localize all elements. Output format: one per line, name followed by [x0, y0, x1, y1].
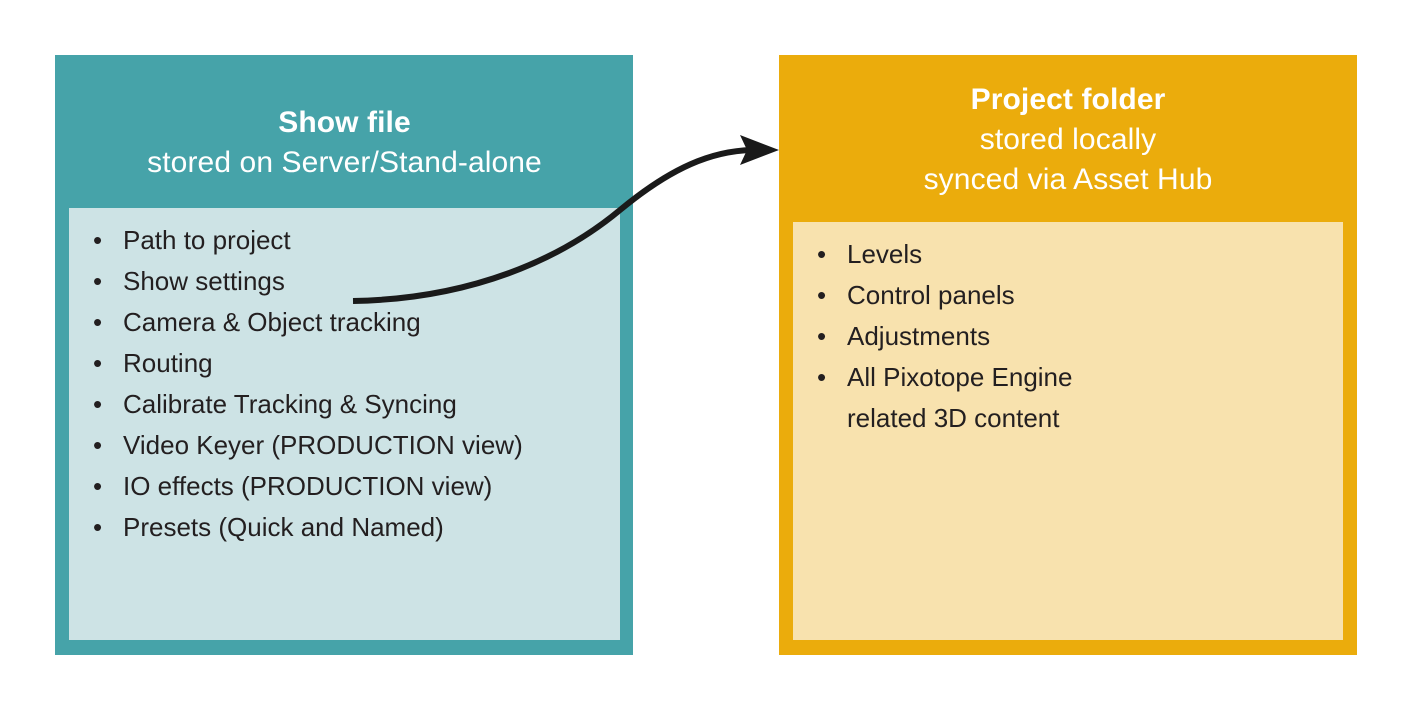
project-folder-panel: • Levels • Control panels • Adjustments …: [793, 222, 1343, 640]
list-item: • Video Keyer (PRODUCTION view): [69, 425, 620, 466]
connector-arrow-head-icon: [740, 135, 779, 165]
bullet-icon: •: [817, 275, 826, 316]
show-file-header: Show file stored on Server/Stand-alone: [69, 68, 620, 183]
list-item: • Presets (Quick and Named): [69, 507, 620, 548]
list-item: • Routing: [69, 343, 620, 384]
list-item: • Path to project: [69, 220, 620, 261]
list-item: • Show settings: [69, 261, 620, 302]
show-file-card: Show file stored on Server/Stand-alone •…: [55, 55, 633, 655]
bullet-icon: •: [93, 220, 102, 261]
list-item: • Adjustments: [793, 316, 1343, 357]
list-item-label: Show settings: [123, 266, 285, 296]
list-item-label: Routing: [123, 348, 213, 378]
bullet-icon: •: [817, 357, 826, 398]
list-item-label-continuation: related 3D content: [847, 398, 1343, 439]
project-folder-list: • Levels • Control panels • Adjustments …: [793, 222, 1343, 439]
bullet-icon: •: [93, 343, 102, 384]
bullet-icon: •: [817, 316, 826, 357]
list-item: • Levels: [793, 234, 1343, 275]
list-item: • Camera & Object tracking: [69, 302, 620, 343]
diagram-canvas: Show file stored on Server/Stand-alone •…: [0, 0, 1411, 708]
bullet-icon: •: [93, 507, 102, 548]
bullet-icon: •: [93, 425, 102, 466]
list-item: • All Pixotope Engine related 3D content: [793, 357, 1343, 439]
list-item: • Control panels: [793, 275, 1343, 316]
show-file-list: • Path to project • Show settings • Came…: [69, 208, 620, 548]
bullet-icon: •: [93, 302, 102, 343]
list-item-label: Levels: [847, 239, 922, 269]
show-file-title: Show file: [77, 103, 612, 143]
project-folder-subtitle-line-2: synced via Asset Hub: [801, 160, 1335, 200]
list-item-label: All Pixotope Engine: [847, 362, 1072, 392]
list-item: • Calibrate Tracking & Syncing: [69, 384, 620, 425]
project-folder-card: Project folder stored locally synced via…: [779, 55, 1357, 655]
list-item-label: Video Keyer (PRODUCTION view): [123, 430, 523, 460]
list-item: • IO effects (PRODUCTION view): [69, 466, 620, 507]
list-item-label: Camera & Object tracking: [123, 307, 421, 337]
list-item-label: Adjustments: [847, 321, 990, 351]
bullet-icon: •: [817, 234, 826, 275]
list-item-label: IO effects (PRODUCTION view): [123, 471, 492, 501]
project-folder-subtitle-line-1: stored locally: [801, 120, 1335, 160]
bullet-icon: •: [93, 384, 102, 425]
list-item-label: Control panels: [847, 280, 1015, 310]
bullet-icon: •: [93, 466, 102, 507]
project-folder-title: Project folder: [801, 80, 1335, 120]
list-item-label: Path to project: [123, 225, 291, 255]
show-file-panel: • Path to project • Show settings • Came…: [69, 208, 620, 640]
list-item-label: Presets (Quick and Named): [123, 512, 444, 542]
list-item-label: Calibrate Tracking & Syncing: [123, 389, 457, 419]
show-file-subtitle-line-1: stored on Server/Stand-alone: [77, 143, 612, 183]
project-folder-header: Project folder stored locally synced via…: [793, 68, 1343, 200]
bullet-icon: •: [93, 261, 102, 302]
